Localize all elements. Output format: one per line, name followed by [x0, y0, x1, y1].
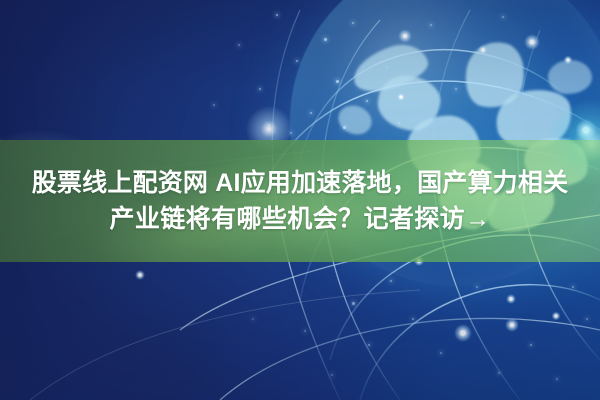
headline-block: 股票线上配资网 AI应用加速落地，国产算力相关 产业链将有哪些机会？记者探访→ — [0, 140, 600, 262]
news-banner-image: 股票线上配资网 AI应用加速落地，国产算力相关 产业链将有哪些机会？记者探访→ — [0, 0, 600, 400]
headline-line-2: 产业链将有哪些机会？记者探访→ — [109, 203, 490, 236]
headline-line-1: 股票线上配资网 AI应用加速落地，国产算力相关 — [32, 167, 569, 200]
